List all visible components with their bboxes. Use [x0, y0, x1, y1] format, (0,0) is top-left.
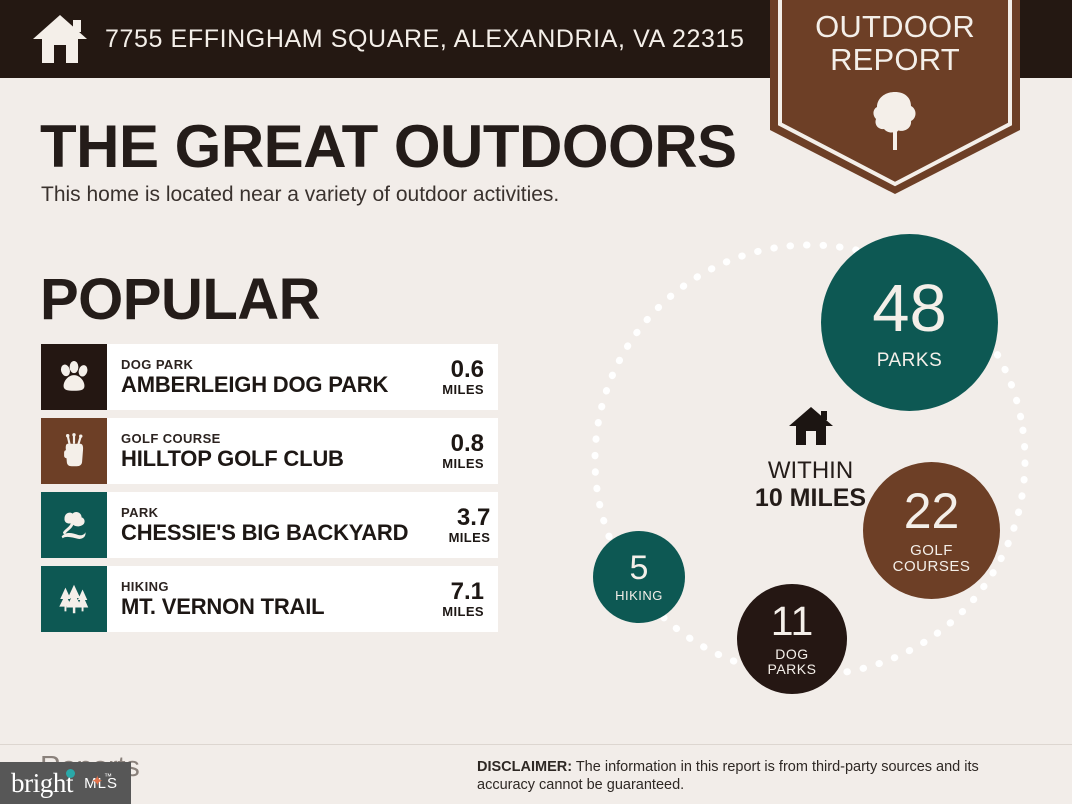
- list-item-category: DOG PARK: [121, 357, 402, 372]
- center-within-text: WITHIN: [703, 457, 918, 484]
- list-item-text: PARK CHESSIE'S BIG BACKYARD: [107, 492, 408, 558]
- center-miles-text: 10 MILES: [703, 484, 918, 513]
- bright-mls-star-icon: ✦: [91, 776, 102, 787]
- list-item-category: HIKING: [121, 579, 402, 594]
- golf-bag-icon: [41, 418, 107, 484]
- disclaimer: DISCLAIMER: The information in this repo…: [477, 758, 1033, 794]
- outdoor-report-page: 7755 EFFINGHAM SQUARE, ALEXANDRIA, VA 22…: [0, 0, 1072, 804]
- stat-bubble-parks[interactable]: 48 PARKS: [821, 234, 998, 411]
- popular-list: DOG PARK AMBERLEIGH DOG PARK 0.6 MILES: [41, 344, 498, 640]
- hiking-count: 5: [630, 551, 649, 585]
- bright-mls-dot-icon: [66, 769, 75, 778]
- list-item[interactable]: HIKING MT. VERNON TRAIL 7.1 MILES: [41, 566, 498, 632]
- footer-divider: [0, 744, 1072, 745]
- list-item-name: MT. VERNON TRAIL: [121, 594, 402, 619]
- distance-value: 0.6: [451, 357, 484, 382]
- list-item[interactable]: DOG PARK AMBERLEIGH DOG PARK 0.6 MILES: [41, 344, 498, 410]
- diagram-center-label: WITHIN 10 MILES: [703, 405, 918, 513]
- parks-label: PARKS: [877, 351, 943, 371]
- list-item-distance: 0.6 MILES: [402, 344, 498, 410]
- list-item[interactable]: GOLF COURSE HILLTOP GOLF CLUB 0.8 MILES: [41, 418, 498, 484]
- badge-title-line1: OUTDOOR: [770, 10, 1020, 43]
- stat-bubble-hiking[interactable]: 5 HIKING: [593, 531, 685, 623]
- within-10-miles-diagram: 48 PARKS 22 GOLF COURSES 11 DOG PARKS 5 …: [560, 215, 1060, 715]
- list-item-distance: 7.1 MILES: [402, 566, 498, 632]
- hiking-label: HIKING: [615, 589, 663, 603]
- list-item-distance: 0.8 MILES: [402, 418, 498, 484]
- list-item-name: AMBERLEIGH DOG PARK: [121, 372, 402, 397]
- list-item-text: HIKING MT. VERNON TRAIL: [107, 566, 402, 632]
- list-item[interactable]: PARK CHESSIE'S BIG BACKYARD 3.7 MILES: [41, 492, 498, 558]
- list-item-name: HILLTOP GOLF CLUB: [121, 446, 402, 471]
- paw-print-icon: [41, 344, 107, 410]
- popular-heading: POPULAR: [40, 266, 320, 333]
- bright-mls-logo: bright ✦ ™ MLS: [0, 762, 131, 804]
- page-title: THE GREAT OUTDOORS: [40, 112, 737, 182]
- distance-unit: MILES: [442, 456, 484, 472]
- pine-trees-icon: [41, 566, 107, 632]
- distance-value: 0.8: [451, 431, 484, 456]
- list-item-distance: 3.7 MILES: [408, 492, 504, 558]
- stat-bubble-dog-parks[interactable]: 11 DOG PARKS: [737, 584, 847, 694]
- dogparks-count: 11: [771, 601, 814, 642]
- outdoor-report-badge: OUTDOOR REPORT: [770, 0, 1020, 194]
- list-item-category: GOLF COURSE: [121, 431, 402, 446]
- distance-unit: MILES: [442, 604, 484, 620]
- list-item-text: GOLF COURSE HILLTOP GOLF CLUB: [107, 418, 402, 484]
- house-icon: [787, 405, 835, 447]
- bright-mls-wordmark: bright: [11, 768, 73, 798]
- badge-title: OUTDOOR REPORT: [770, 10, 1020, 76]
- distance-unit: MILES: [449, 530, 491, 546]
- distance-unit: MILES: [442, 382, 484, 398]
- list-item-category: PARK: [121, 505, 408, 520]
- property-address: 7755 EFFINGHAM SQUARE, ALEXANDRIA, VA 22…: [105, 25, 744, 54]
- badge-title-line2: REPORT: [770, 43, 1020, 76]
- dogparks-label-line1: DOG: [768, 647, 817, 662]
- golf-label-line2: COURSES: [893, 559, 971, 575]
- golf-label: GOLF COURSES: [893, 543, 971, 575]
- distance-value: 7.1: [451, 579, 484, 604]
- house-icon: [31, 13, 89, 65]
- tree-icon: [871, 90, 919, 152]
- dogparks-label: DOG PARKS: [768, 647, 817, 676]
- list-item-name: CHESSIE'S BIG BACKYARD: [121, 520, 408, 545]
- distance-value: 3.7: [457, 505, 490, 530]
- golf-label-line1: GOLF: [893, 543, 971, 559]
- list-item-text: DOG PARK AMBERLEIGH DOG PARK: [107, 344, 402, 410]
- parks-count: 48: [872, 275, 947, 342]
- page-subtitle: This home is located near a variety of o…: [41, 183, 559, 207]
- dogparks-label-line2: PARKS: [768, 662, 817, 677]
- disclaimer-label: DISCLAIMER:: [477, 759, 572, 775]
- trademark-icon: ™: [104, 772, 112, 781]
- park-trees-icon: [41, 492, 107, 558]
